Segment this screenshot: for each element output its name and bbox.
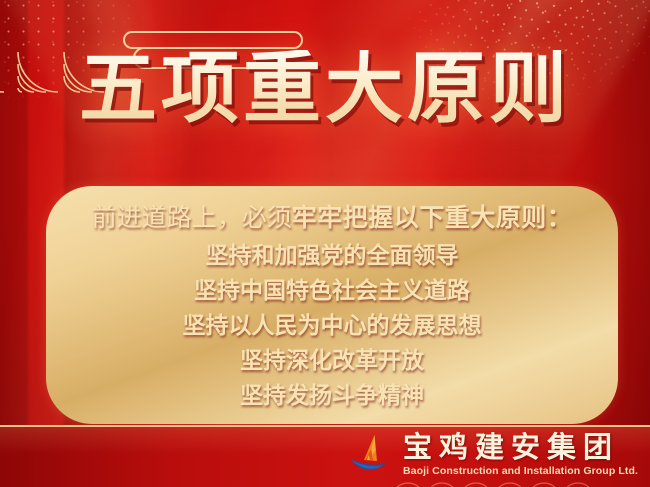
principle-item-5: 坚持发扬斗争精神 [240, 378, 424, 413]
logo-text-block: 宝鸡建安集团 Baoji Construction and Installati… [403, 433, 638, 477]
company-name-en: Baoji Construction and Installation Grou… [403, 465, 638, 477]
company-name-cn: 宝鸡建安集团 [403, 433, 638, 464]
company-logo: 宝鸡建安集团 Baoji Construction and Installati… [345, 431, 638, 479]
lead-normal-text: 前进道路上，必须 [92, 204, 292, 232]
principle-item-4: 坚持深化改革开放 [240, 343, 424, 378]
principle-item-3: 坚持以人民为中心的发展思想 [183, 308, 482, 343]
sailboat-icon [345, 431, 393, 479]
title-block: 五项重大原则 [0, 50, 650, 128]
poster-canvas: 五项重大原则 前进道路上，必须牢牢把握以下重大原则： 坚持和加强党的全面领导 坚… [0, 0, 650, 487]
page-title: 五项重大原则 [79, 50, 571, 128]
footer-bar: 宝鸡建安集团 Baoji Construction and Installati… [0, 425, 650, 487]
principles-panel: 前进道路上，必须牢牢把握以下重大原则： 坚持和加强党的全面领导 坚持中国特色社会… [46, 186, 618, 424]
lead-emphasis-text: 牢牢把握以下重大原则： [292, 204, 573, 232]
principle-item-2: 坚持中国特色社会主义道路 [194, 273, 470, 308]
lead-line: 前进道路上，必须牢牢把握以下重大原则： [92, 200, 573, 236]
principle-item-1: 坚持和加强党的全面领导 [206, 238, 459, 273]
